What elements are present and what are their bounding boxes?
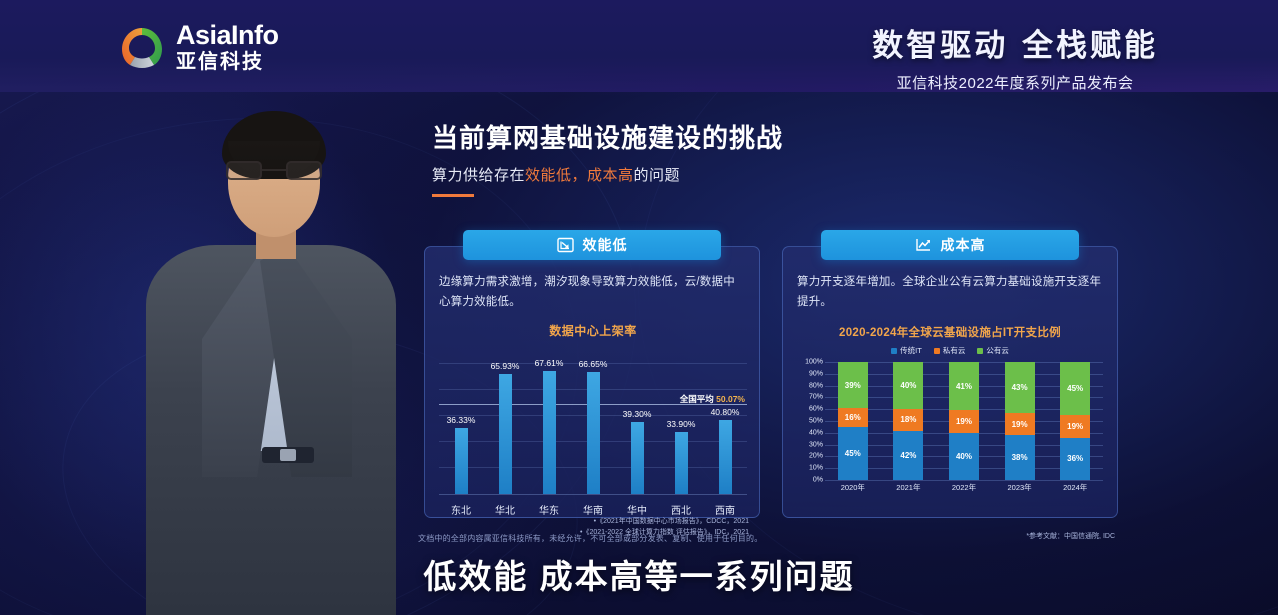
stacked-bar: 41%19%40% (949, 362, 979, 480)
gridline (825, 480, 1103, 481)
legend-swatch (977, 348, 983, 354)
video-caption: 低效能 成本高等一系列问题 (0, 550, 1278, 598)
event-subtitle: 亚信科技2022年度系列产品发布会 (872, 72, 1158, 93)
card-right-header[interactable]: 成本高 (821, 230, 1079, 260)
card-left-description: 边缘算力需求激增，潮汐现象导致算力效能低，云/数据中心算力效能低。 (439, 273, 745, 312)
y-tick-label: 40% (809, 429, 823, 436)
stacked-bar: 39%16%45% (838, 362, 868, 480)
stack-segment: 36% (1060, 438, 1090, 480)
card-right-header-label: 成本高 (941, 235, 986, 255)
legend-swatch (934, 348, 940, 354)
legend-swatch (891, 348, 897, 354)
presenter-belt (262, 447, 314, 463)
chart-right-plot: 100%90%80%70%60%50%40%30%20%10%0% 39%16%… (797, 362, 1103, 492)
x-tick-label: 西南 (708, 502, 742, 517)
bar (455, 428, 468, 494)
bar (587, 372, 600, 494)
segment-value-label: 41% (956, 382, 972, 391)
logo-text-cn: 亚信科技 (176, 52, 279, 72)
stack-segment: 45% (838, 427, 868, 480)
bar-value-label: 33.90% (653, 419, 709, 429)
chart-cloud-it-spend-share: 2020-2024年全球云基础设施占IT开支比例 传统IT私有云公有云 100%… (797, 324, 1103, 492)
segment-value-label: 19% (1012, 420, 1028, 429)
legend-item: 传统IT (891, 345, 922, 356)
bar-column: 67.61% (532, 348, 566, 494)
footnote-item: •《2021年中国数据中心市场报告》，CDCC，2021 (580, 517, 749, 528)
bar (499, 374, 512, 494)
y-tick-label: 30% (809, 441, 823, 448)
stack-segment: 40% (893, 362, 923, 409)
x-tick-label: 西北 (664, 502, 698, 517)
chart-left-title: 数据中心上架率 (439, 322, 747, 339)
segment-value-label: 43% (1012, 383, 1028, 392)
chart-down-icon (557, 237, 574, 253)
x-tick-label: 2024年 (1055, 482, 1095, 493)
chart-left-x-axis: 东北华北华东华南华中西北西南 (439, 502, 747, 517)
slide-content: 当前算网基础设施建设的挑战 算力供给存在效能低，成本高的问题 边缘算力需求激增，… (410, 118, 1150, 548)
x-tick-label: 2023年 (1000, 482, 1040, 493)
segment-value-label: 40% (956, 452, 972, 461)
left-footnotes: •《2021年中国数据中心市场报告》，CDCC，2021 •《2021-2022… (580, 517, 749, 539)
brand-logo: AsiaInfo 亚信科技 (118, 22, 279, 72)
slide-stage: AsiaInfo 亚信科技 数智驱动 全栈赋能 亚信科技2022年度系列产品发布… (0, 0, 1278, 615)
x-tick-label: 华东 (532, 502, 566, 517)
bar-value-label: 39.30% (609, 409, 665, 419)
y-tick-label: 0% (813, 477, 823, 484)
subtitle-prefix: 算力供给存在 (432, 167, 525, 184)
subtitle-highlight-1: 效能低， (525, 167, 587, 184)
legend-label: 私有云 (943, 345, 966, 356)
y-tick-label: 20% (809, 453, 823, 460)
presenter-glasses (226, 161, 322, 181)
segment-value-label: 18% (900, 415, 916, 424)
stacked-bar: 45%19%36% (1060, 362, 1090, 480)
subtitle-suffix: 的问题 (634, 167, 681, 184)
y-tick-label: 10% (809, 465, 823, 472)
stack-segment: 19% (1060, 415, 1090, 437)
card-left-header[interactable]: 效能低 (463, 230, 721, 260)
stack-segment: 41% (949, 362, 979, 410)
segment-value-label: 40% (900, 381, 916, 390)
segment-value-label: 19% (956, 417, 972, 426)
chart-right-stacked-bars: 39%16%45%40%18%42%41%19%40%43%19%38%45%1… (825, 362, 1103, 480)
card-high-cost: 算力开支逐年增加。全球企业公有云算力基础设施开支逐年提升。 2020-2024年… (782, 230, 1118, 518)
segment-value-label: 45% (845, 449, 861, 458)
segment-value-label: 39% (845, 381, 861, 390)
stack-segment: 43% (1005, 362, 1035, 413)
chart-right-x-axis: 2020年2021年2022年2023年2024年 (825, 482, 1103, 493)
slide-title: 当前算网基础设施建设的挑战 (432, 118, 1150, 155)
card-body-left: 边缘算力需求激增，潮汐现象导致算力效能低，云/数据中心算力效能低。 数据中心上架… (424, 246, 760, 518)
right-reference-note: *参考文献：中国信通院, IDC (1026, 531, 1115, 541)
event-slogan: 数智驱动 全栈赋能 (872, 20, 1158, 65)
bar-column: 33.90% (664, 348, 698, 494)
bar (543, 371, 556, 494)
bar-column: 39.30% (620, 348, 654, 494)
bar (631, 422, 644, 494)
y-tick-label: 60% (809, 406, 823, 413)
chart-left-bars: 36.33%65.93%67.61%66.65%39.30%33.90%40.8… (439, 348, 747, 494)
legend-item: 私有云 (934, 345, 966, 356)
bar-column: 65.93% (488, 348, 522, 494)
bar-value-label: 66.65% (565, 359, 621, 369)
y-tick-label: 70% (809, 394, 823, 401)
card-body-right: 算力开支逐年增加。全球企业公有云算力基础设施开支逐年提升。 2020-2024年… (782, 246, 1118, 518)
stack-segment: 19% (1005, 413, 1035, 435)
segment-value-label: 38% (1012, 453, 1028, 462)
bar-column: 66.65% (576, 348, 610, 494)
bar (719, 420, 732, 494)
y-tick-label: 100% (805, 359, 823, 366)
card-left-header-label: 效能低 (583, 235, 628, 255)
x-tick-label: 华北 (488, 502, 522, 517)
segment-value-label: 45% (1067, 384, 1083, 393)
x-tick-label: 2021年 (888, 482, 928, 493)
slide-subtitle: 算力供给存在效能低，成本高的问题 (432, 164, 1150, 185)
card-right-description: 算力开支逐年增加。全球企业公有云算力基础设施开支逐年提升。 (797, 273, 1103, 312)
x-tick-label: 东北 (444, 502, 478, 517)
stack-segment: 45% (1060, 362, 1090, 415)
y-tick-label: 50% (809, 418, 823, 425)
card-low-efficiency: 边缘算力需求激增，潮汐现象导致算力效能低，云/数据中心算力效能低。 数据中心上架… (424, 230, 760, 518)
stack-segment: 18% (893, 409, 923, 430)
stack-segment: 38% (1005, 435, 1035, 480)
chart-left-plot: 全国平均 50.07% 36.33%65.93%67.61%66.65%39.3… (439, 349, 747, 495)
x-tick-label: 华中 (620, 502, 654, 517)
legend-label: 公有云 (986, 345, 1009, 356)
title-underline (432, 194, 474, 197)
stack-segment: 42% (893, 431, 923, 481)
y-tick-label: 80% (809, 382, 823, 389)
stack-segment: 40% (949, 433, 979, 480)
stacked-bar: 43%19%38% (1005, 362, 1035, 480)
segment-value-label: 42% (900, 451, 916, 460)
x-tick-label: 2022年 (944, 482, 984, 493)
stack-segment: 19% (949, 410, 979, 432)
logo-text-en: AsiaInfo (176, 22, 279, 49)
asiainfo-triangle-logo-icon (118, 23, 166, 71)
bar-value-label: 40.80% (697, 407, 753, 417)
cards-row: 边缘算力需求激增，潮汐现象导致算力效能低，云/数据中心算力效能低。 数据中心上架… (424, 230, 1140, 530)
bar (675, 432, 688, 494)
footnote-item: •《2021-2022 全球计算力指数 评估报告》，IDC，2021 (580, 528, 749, 539)
segment-value-label: 16% (845, 413, 861, 422)
legend-label: 传统IT (900, 345, 922, 356)
x-tick-label: 华南 (576, 502, 610, 517)
chart-up-icon (915, 237, 932, 253)
legend-item: 公有云 (977, 345, 1009, 356)
event-branding: 数智驱动 全栈赋能 亚信科技2022年度系列产品发布会 (872, 20, 1158, 93)
subtitle-highlight-2: 成本高 (587, 167, 634, 184)
stacked-bar: 40%18%42% (893, 362, 923, 480)
stack-segment: 39% (838, 362, 868, 408)
segment-value-label: 36% (1067, 454, 1083, 463)
chart-data-center-rack-rate: 数据中心上架率 全国平均 50.07% 3 (439, 322, 747, 512)
segment-value-label: 19% (1067, 422, 1083, 431)
y-tick-label: 90% (809, 370, 823, 377)
bar-column: 40.80% (708, 348, 742, 494)
bar-value-label: 36.33% (433, 415, 489, 425)
presenter-figure (110, 95, 410, 615)
x-tick-label: 2020年 (833, 482, 873, 493)
bar-column: 36.33% (444, 348, 478, 494)
stack-segment: 16% (838, 408, 868, 427)
chart-right-y-axis: 100%90%80%70%60%50%40%30%20%10%0% (797, 362, 823, 480)
chart-right-legend: 传统IT私有云公有云 (797, 345, 1103, 356)
chart-right-title: 2020-2024年全球云基础设施占IT开支比例 (797, 324, 1103, 340)
